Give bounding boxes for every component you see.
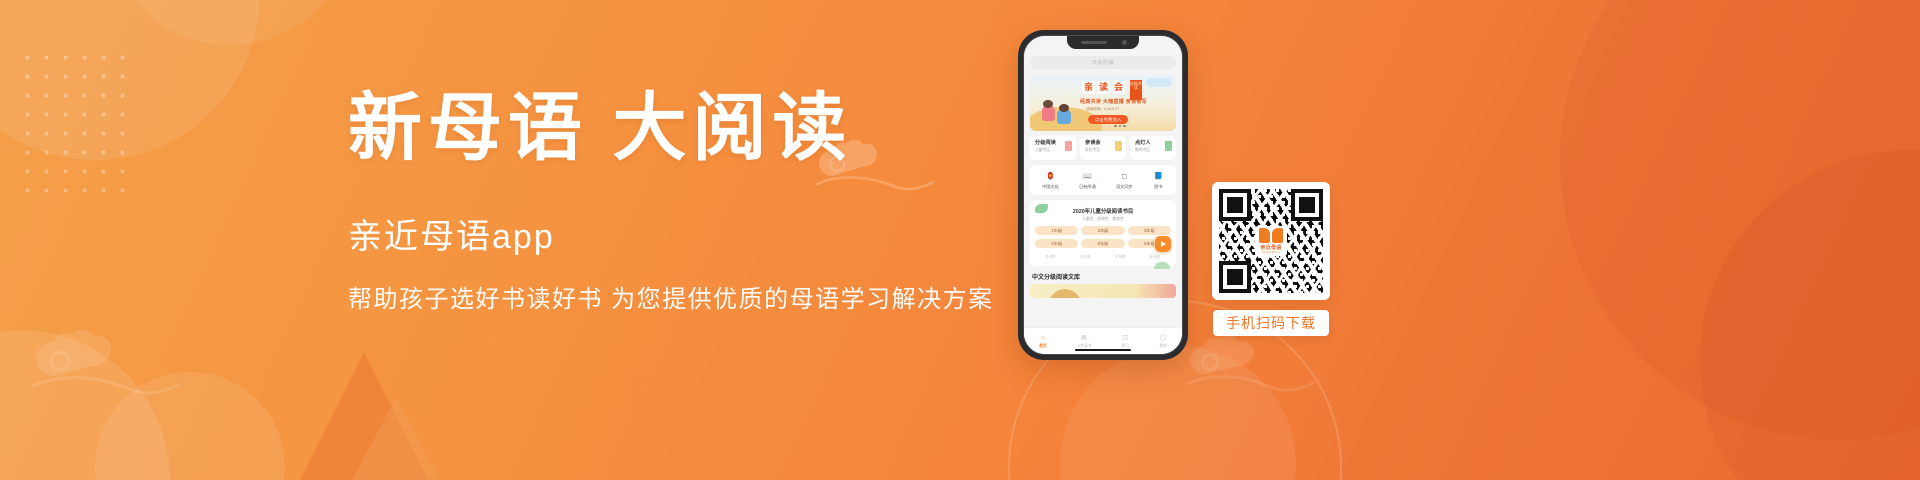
tab-study[interactable]: ◳ 学习 — [1121, 333, 1130, 349]
zone-card-parent-club[interactable]: 亲读会 家长专区 — [1080, 136, 1126, 160]
grade-chip[interactable]: 5年级 — [1081, 239, 1124, 248]
decorative-ring-inner — [1060, 346, 1296, 480]
library-section-title: 中文分级阅读文库 — [1030, 272, 1176, 281]
promo-banner: 新母语 大阅读 亲近母语app 帮助孩子选好书读好书 为您提供优质的母语学习解决… — [0, 0, 1920, 480]
brand-name: 亲近母语 — [1260, 244, 1281, 251]
age-chip[interactable]: 0-3岁 — [1035, 252, 1067, 261]
hero-date: 活动时间：4.16-5.27 — [1086, 107, 1119, 112]
age-chip[interactable]: 3-4岁 — [1070, 252, 1102, 261]
sky-shape — [1146, 78, 1172, 87]
hero-title-char-1: 亲 — [1082, 81, 1095, 94]
zone-row: 分级阅读 儿童专区 亲读会 家长专区 点灯人 教师专区 — [1030, 136, 1176, 160]
grade-chip[interactable]: 1年级 — [1035, 226, 1078, 235]
decorative-triangle-2 — [352, 398, 440, 480]
book-list-card: 2020年儿童分级阅读书目 儿童性、经典性、教育性 1年级 2年级 3年级 4年… — [1030, 200, 1176, 266]
qr-finder-bottom-left — [1219, 261, 1251, 293]
headline-block: 新母语 大阅读 亲近母语app 帮助孩子选好书读好书 为您提供优质的母语学习解决… — [348, 92, 1008, 312]
quick-link-chinese-culture[interactable]: 🏮 中国文化 — [1042, 171, 1059, 190]
hero-subtitle: 经典共读 大咖直播 亲读者写 — [1080, 98, 1147, 105]
page-title: 新母语 大阅读 — [348, 92, 1008, 166]
brand-name-pinyin: QINJIN MUYU — [1261, 251, 1280, 254]
book-card-subtitle: 儿童性、经典性、教育性 — [1035, 217, 1171, 222]
quick-link-label: 中国文化 — [1042, 184, 1059, 190]
download-button[interactable]: 手机扫码下载 — [1213, 310, 1329, 336]
app-screen: 日有所诵 亲 读 会 经典共读 经典共读 大咖直播 亲读者写 活动时间：4.16… — [1024, 36, 1182, 354]
tab-label: 我的 — [1159, 344, 1168, 349]
books-icon: 📘 — [1153, 171, 1164, 182]
tab-profile[interactable]: ◯ 我的 — [1159, 333, 1168, 349]
age-chip-row: 0-3岁 3-4岁 4-5岁 5-6岁 — [1035, 252, 1171, 261]
carousel-dots[interactable] — [1114, 125, 1126, 128]
tagline: 帮助孩子选好书读好书 为您提供优质的母语学习解决方案 — [348, 288, 1008, 312]
play-icon — [1161, 241, 1166, 247]
dot-grid-pattern — [18, 48, 138, 208]
child-illustration-2 — [1057, 109, 1071, 124]
quick-link-books[interactable]: 📘 图书 — [1153, 171, 1164, 190]
decorative-circle-top-left-2 — [105, 0, 355, 45]
quick-link-textbook-sync[interactable]: ◻ 语文同步 — [1116, 171, 1133, 190]
qr-code-card: 亲近母语 QINJIN MUYU — [1212, 182, 1330, 300]
zone-card-teacher[interactable]: 点灯人 教师专区 — [1130, 136, 1176, 160]
decorative-circle-bottom-left — [0, 330, 170, 480]
search-placeholder: 日有所诵 — [1092, 59, 1114, 66]
library-illustration — [1048, 289, 1082, 298]
decorative-circle-top-left — [0, 0, 260, 160]
hero-join-button[interactable]: 点击免费加入 — [1088, 115, 1128, 124]
speaker-icon — [1081, 41, 1107, 44]
qr-code: 亲近母语 QINJIN MUYU — [1219, 189, 1323, 293]
phone-notch — [1067, 36, 1139, 49]
search-input[interactable]: 日有所诵 — [1030, 56, 1176, 69]
leaf-icon-2 — [1154, 262, 1170, 269]
grade-chip[interactable]: 4年级 — [1035, 239, 1078, 248]
hero-title: 亲 读 会 — [1082, 81, 1125, 94]
quick-link-label: 日有所诵 — [1079, 184, 1096, 190]
hero-banner[interactable]: 亲 读 会 经典共读 经典共读 大咖直播 亲读者写 活动时间：4.16-5.27… — [1030, 75, 1176, 131]
book-card-title: 2020年儿童分级阅读书目 — [1035, 207, 1171, 215]
bookmark-icon — [1165, 141, 1172, 151]
square-icon: ◻ — [1119, 171, 1130, 182]
age-chip[interactable]: 4-5岁 — [1105, 252, 1137, 261]
home-indicator — [1075, 349, 1131, 352]
bookmark-icon — [1065, 141, 1072, 151]
bookmark-icon — [1115, 141, 1122, 151]
hero-title-char-3: 会 — [1112, 81, 1125, 94]
age-chip[interactable]: 5-6岁 — [1139, 252, 1171, 261]
hero-ribbon: 经典共读 — [1130, 80, 1142, 100]
tab-xiaobu-reading[interactable]: ▤ 小步读书 — [1076, 333, 1091, 349]
list-icon: ▤ — [1080, 333, 1089, 342]
quick-link-label: 图书 — [1153, 184, 1164, 190]
decorative-circle-bottom-center — [95, 372, 285, 480]
tab-home[interactable]: ⌂ 首页 — [1038, 333, 1047, 349]
open-book-icon — [1259, 228, 1283, 243]
app-name: 亲近母语app — [348, 220, 1008, 254]
camera-icon — [1122, 40, 1127, 45]
phone-mockup: 日有所诵 亲 读 会 经典共读 经典共读 大咖直播 亲读者写 活动时间：4.16… — [1018, 30, 1188, 360]
decorative-triangle — [300, 352, 428, 480]
decorative-circle-right-2 — [1700, 150, 1920, 480]
clipboard-icon: ◳ — [1121, 333, 1130, 342]
cloud-icon-left — [30, 330, 180, 400]
cloud-icon-right — [1185, 336, 1315, 396]
decorative-circle-right — [1560, 0, 1920, 440]
grade-chip-row-2: 4年级 5年级 6年级 — [1035, 239, 1171, 248]
quick-icon-row: 🏮 中国文化 📖 日有所诵 ◻ 语文同步 📘 图书 — [1030, 165, 1176, 195]
zone-card-graded-reading[interactable]: 分级阅读 儿童专区 — [1030, 136, 1076, 160]
lantern-icon: 🏮 — [1045, 171, 1056, 182]
child-illustration-1 — [1042, 105, 1055, 121]
hero-title-char-2: 读 — [1097, 81, 1110, 94]
grade-chip-row-1: 1年级 2年级 3年级 — [1035, 226, 1171, 235]
tab-label: 首页 — [1038, 344, 1047, 349]
user-icon: ◯ — [1159, 333, 1168, 342]
book-icon: 📖 — [1082, 171, 1093, 182]
phone-screen-frame: 日有所诵 亲 读 会 经典共读 经典共读 大咖直播 亲读者写 活动时间：4.16… — [1023, 35, 1183, 355]
quick-link-daily-recite[interactable]: 📖 日有所诵 — [1079, 171, 1096, 190]
qr-center-logo: 亲近母语 QINJIN MUYU — [1255, 226, 1287, 256]
quick-link-label: 语文同步 — [1116, 184, 1133, 190]
qr-finder-top-right — [1291, 189, 1323, 221]
video-play-button[interactable] — [1155, 236, 1171, 252]
home-icon: ⌂ — [1038, 333, 1047, 342]
library-card[interactable] — [1030, 284, 1176, 298]
grade-chip[interactable]: 3年级 — [1128, 226, 1171, 235]
qr-finder-top-left — [1219, 189, 1251, 221]
grade-chip[interactable]: 2年级 — [1081, 226, 1124, 235]
